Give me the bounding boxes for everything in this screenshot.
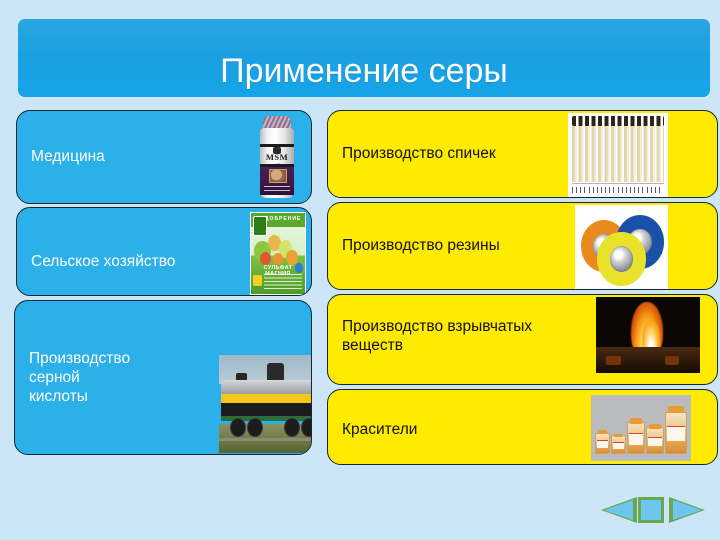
ruler-tick <box>634 187 635 193</box>
dye-jar <box>665 412 687 455</box>
railway-tank-car-image <box>219 355 312 453</box>
page-title: Применение серы <box>18 52 710 90</box>
bottle-label-panel <box>260 167 295 195</box>
tank-wheel <box>284 418 300 438</box>
tire-yellow <box>597 232 645 286</box>
card-agriculture-label: Сельское хозяйство <box>31 252 175 271</box>
fire-flame-image <box>596 297 700 373</box>
ruler-tick <box>647 187 648 193</box>
card-sulfuric-acid[interactable]: Производство серной кислоты <box>14 300 312 455</box>
next-slide-icon-fill[interactable] <box>673 500 702 520</box>
ruler-tick <box>622 187 623 193</box>
msm-supplement-bottle-image: MSMwithMicrohydrin <box>246 114 308 202</box>
fertilizer-body-text <box>264 274 302 290</box>
card-medicine[interactable]: Медицина MSMwithMicrohydrin <box>16 110 312 204</box>
dye-jar-label <box>597 440 608 448</box>
card-explosives[interactable]: Производство взрывчатых веществ <box>327 294 718 385</box>
card-agriculture[interactable]: Сельское хозяйство УДОБРЕНИЕ СУЛЬФАТ МАГ… <box>16 207 312 296</box>
dye-jar-label <box>629 433 643 444</box>
card-dyes-label: Красители <box>342 420 417 439</box>
dye-jar <box>646 427 664 454</box>
card-dyes[interactable]: Красители <box>327 389 718 465</box>
match-heads <box>572 116 664 126</box>
card-explosives-label: Производство взрывчатых веществ <box>342 317 552 355</box>
match-sticks <box>572 118 664 182</box>
fertilizer-packet-image: УДОБРЕНИЕ СУЛЬФАТ МАГНИЯ <box>246 210 308 295</box>
tank-track <box>219 438 312 441</box>
ember <box>665 356 680 365</box>
card-rubber[interactable]: Производство резины <box>327 202 718 290</box>
card-sulfuric-acid-label: Производство серной кислоты <box>29 349 130 406</box>
ruler-tick <box>609 187 610 193</box>
ruler-tick <box>659 187 660 193</box>
tank-yellow-stripe <box>221 394 312 403</box>
bottle-label-lines <box>264 186 290 193</box>
dye-jar <box>627 422 645 454</box>
ember <box>606 356 621 365</box>
ruler-tick <box>651 187 652 193</box>
fertilizer-weight-badge <box>253 275 262 286</box>
ruler-tick <box>642 187 643 193</box>
ruler-tick <box>593 187 594 193</box>
card-medicine-label: Медицина <box>31 147 105 166</box>
previous-slide-icon-fill[interactable] <box>604 500 633 520</box>
matches-image <box>568 113 668 197</box>
ruler-tick <box>576 187 577 193</box>
ruler-tick <box>613 187 614 193</box>
ruler-tick <box>626 187 627 193</box>
dye-jar <box>611 435 626 454</box>
ruler-tick <box>638 187 639 193</box>
ruler-tick <box>597 187 598 193</box>
match-ruler-scale <box>572 183 664 196</box>
tank-dome <box>267 363 284 383</box>
card-matches-label: Производство спичек <box>342 144 496 163</box>
fertilizer-produce-art <box>253 231 303 265</box>
dye-jar-label <box>648 437 662 447</box>
card-matches[interactable]: Производство спичек <box>327 110 718 198</box>
colored-tires-image <box>575 205 668 289</box>
ruler-tick <box>655 187 656 193</box>
tank-wheel <box>301 418 312 438</box>
ruler-tick <box>630 187 631 193</box>
slide-navigation <box>601 495 705 525</box>
fertilizer-packet: УДОБРЕНИЕ СУЛЬФАТ МАГНИЯ <box>250 212 307 295</box>
ruler-tick <box>618 187 619 193</box>
ruler-tick <box>572 187 573 193</box>
slide-canvas: Применение серы Медицина MSMwithMicrohyd… <box>0 0 720 540</box>
dye-jar-label <box>667 426 685 441</box>
ruler-tick <box>584 187 585 193</box>
dye-jar-label <box>613 442 624 449</box>
ruler-tick <box>601 187 602 193</box>
ruler-tick <box>589 187 590 193</box>
card-rubber-label: Производство резины <box>342 236 500 255</box>
bottle-label-photo <box>269 169 286 183</box>
dye-jar <box>595 433 610 455</box>
stop-slide-button[interactable] <box>638 497 664 523</box>
ruler-tick <box>605 187 606 193</box>
produce-tomato <box>260 252 271 265</box>
produce-carrot <box>273 253 283 265</box>
ruler-tick <box>580 187 581 193</box>
tank-wheel <box>230 418 246 438</box>
dye-jars-image <box>591 395 691 461</box>
